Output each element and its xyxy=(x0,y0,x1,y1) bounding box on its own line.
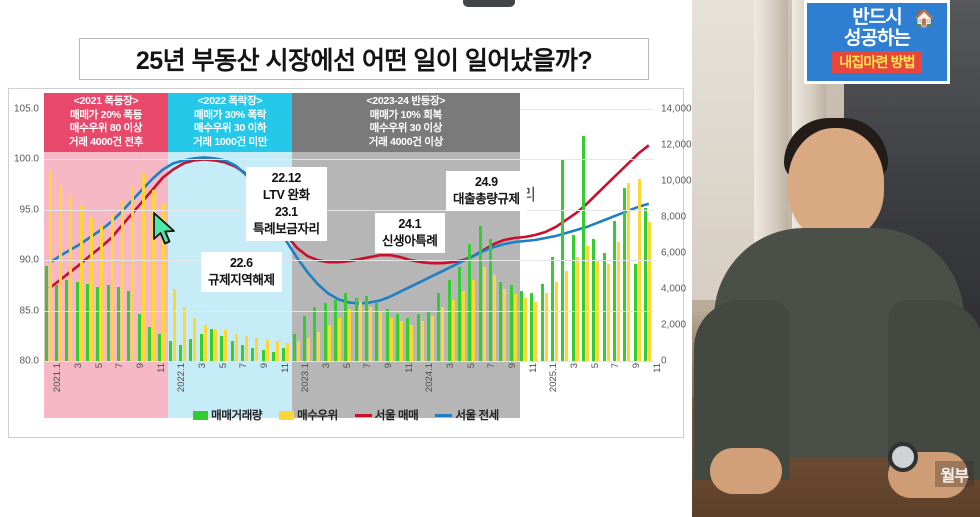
gridline xyxy=(44,260,654,261)
bar-sentiment xyxy=(431,316,434,361)
bar-volume xyxy=(386,309,389,361)
chart-container: 심리 80.085.090.095.0100.0105.002,0004,000… xyxy=(8,88,684,438)
channel-watermark: 월부 xyxy=(935,461,974,487)
bar-sentiment xyxy=(410,325,413,361)
bar-volume xyxy=(65,280,68,361)
x-axis-tick: 5 xyxy=(342,363,353,368)
bar-sentiment xyxy=(524,298,527,361)
bar-volume xyxy=(272,352,275,361)
bar-sentiment xyxy=(276,341,279,361)
overlay-line-3: 내집마련 방법 xyxy=(832,51,922,73)
category-line-2: 매수우위 80 이상 xyxy=(44,122,168,136)
gridline xyxy=(44,210,654,211)
callout-line-1: 규제지역해제 xyxy=(208,272,275,289)
bar-volume xyxy=(375,303,378,361)
bar-volume xyxy=(458,267,461,361)
callout-line-1: 대출총량규제 xyxy=(453,191,520,208)
y-axis-label: 95.0 xyxy=(20,204,39,215)
bar-sentiment xyxy=(452,300,455,361)
legend-swatch xyxy=(435,414,452,417)
bar-volume xyxy=(448,280,451,361)
y-axis-label: 90.0 xyxy=(20,255,39,266)
bar-volume xyxy=(468,244,471,361)
bar-volume xyxy=(179,345,182,361)
x-axis-tick: 2023.1 xyxy=(300,363,311,392)
bar-volume xyxy=(613,221,616,361)
x-axis-tick: 11 xyxy=(156,363,167,373)
person-left-hand xyxy=(710,448,782,494)
callout-line-0: 24.1 xyxy=(382,216,438,233)
x-axis-tick: 5 xyxy=(94,363,105,368)
bar-sentiment xyxy=(90,217,93,361)
bar-volume xyxy=(417,314,420,361)
bar-sentiment xyxy=(607,264,610,361)
bar-volume xyxy=(210,329,213,361)
bar-volume xyxy=(603,253,606,361)
bar-sentiment xyxy=(224,330,227,361)
legend-item: 서울 전세 xyxy=(435,407,499,423)
x-axis-tick: 3 xyxy=(445,363,456,368)
presentation-slide: 25년 부동산 시장에선 어떤 일이 일어났을까? 심리 80.085.090.… xyxy=(0,0,692,517)
x-axis-tick: 9 xyxy=(259,363,270,368)
bar-sentiment xyxy=(100,226,103,361)
bar-volume xyxy=(313,307,316,361)
y2-axis-label: 10,000 xyxy=(661,176,692,187)
gridline xyxy=(44,159,654,160)
y-axis-label: 105.0 xyxy=(14,104,39,115)
legend-item: 서울 매매 xyxy=(355,407,419,423)
callout-ltv: 22.12LTV 완화23.1특례보금자리 xyxy=(246,167,327,241)
bar-sentiment xyxy=(503,289,506,361)
x-axis-tick: 3 xyxy=(321,363,332,368)
bar-volume xyxy=(324,303,327,361)
overlay-line-2: 성공하는 xyxy=(809,28,945,49)
x-axis-tick: 11 xyxy=(280,363,291,373)
wristwatch xyxy=(888,442,918,472)
x-axis-tick: 3 xyxy=(197,363,208,368)
x-axis-tick: 2025.1 xyxy=(548,363,559,392)
bar-volume xyxy=(520,291,523,361)
bar-sentiment xyxy=(297,341,300,361)
bar-sentiment xyxy=(183,307,186,361)
y-axis-label: 85.0 xyxy=(20,305,39,316)
bar-volume xyxy=(406,318,409,361)
bar-volume xyxy=(644,208,647,361)
legend-label: 서울 전세 xyxy=(455,407,499,423)
y-axis-label: 100.0 xyxy=(14,154,39,165)
callout-line-0: 24.9 xyxy=(453,174,520,191)
bar-volume xyxy=(489,239,492,361)
callout-line-0: 22.6 xyxy=(208,255,275,272)
bar-sentiment xyxy=(193,318,196,361)
bar-volume xyxy=(510,285,513,361)
x-axis-tick: 2024.1 xyxy=(424,363,435,392)
callout-line-1: LTV 완화 xyxy=(253,187,320,204)
x-axis-tick: 9 xyxy=(135,363,146,368)
y2-axis-label: 8,000 xyxy=(661,212,686,223)
bar-volume xyxy=(365,296,368,361)
bar-volume xyxy=(623,188,626,361)
bar-volume xyxy=(55,285,58,361)
bar-volume xyxy=(396,314,399,361)
bar-sentiment xyxy=(348,309,351,361)
bar-sentiment xyxy=(483,267,486,361)
x-axis-tick: 3 xyxy=(73,363,84,368)
bar-sentiment xyxy=(111,213,114,361)
category-line-3: 거래 1000건 미만 xyxy=(168,136,292,150)
x-axis-tick: 7 xyxy=(114,363,125,368)
x-axis-tick: 9 xyxy=(631,363,642,368)
bar-volume xyxy=(169,341,172,361)
person-face xyxy=(788,128,884,240)
category-box-2021: <2021 폭등장>매매가 20% 폭등매수우위 80 이상거래 4000건 전… xyxy=(44,93,168,152)
x-axis-tick: 2021.1 xyxy=(52,363,63,392)
bar-volume xyxy=(262,350,265,361)
legend-label: 매매거래량 xyxy=(211,407,262,423)
x-axis-tick: 7 xyxy=(610,363,621,368)
bar-volume xyxy=(251,348,254,361)
category-box-2023-24: <2023-24 반등장>매매가 10% 회복매수우위 30 이상거래 4000… xyxy=(292,93,519,152)
callout-loan: 24.9대출총량규제 xyxy=(446,171,527,211)
bar-sentiment xyxy=(235,334,238,361)
bar-volume xyxy=(220,336,223,361)
callout-line-0: 22.12 xyxy=(253,170,320,187)
category-line-1: 매매가 20% 폭등 xyxy=(44,109,168,123)
bar-volume xyxy=(437,293,440,361)
bar-sentiment xyxy=(121,199,124,361)
bar-sentiment xyxy=(555,282,558,361)
callout-line-1: 신생아특례 xyxy=(382,233,438,250)
bar-volume xyxy=(148,327,151,361)
category-box-2022: <2022 폭락장>매매가 30% 폭락매수우위 30 이하거래 1000건 미… xyxy=(168,93,292,152)
bar-volume xyxy=(303,316,306,361)
bar-volume xyxy=(592,239,595,361)
bar-volume xyxy=(572,235,575,361)
video-panel: 🏠 반드시 성공하는 내집마련 방법 월부 xyxy=(692,0,980,517)
category-line-3: 거래 4000건 이상 xyxy=(292,136,519,150)
bar-volume xyxy=(479,226,482,361)
bar-sentiment xyxy=(317,332,320,361)
bar-sentiment xyxy=(421,321,424,361)
bar-volume xyxy=(241,345,244,361)
bar-volume xyxy=(107,285,110,361)
gridline xyxy=(44,311,654,312)
bar-sentiment xyxy=(472,280,475,361)
chart-legend: 매매거래량매수우위서울 매매서울 전세 xyxy=(9,407,683,423)
x-axis-tick: 11 xyxy=(652,363,663,373)
bar-volume xyxy=(45,266,48,361)
category-line-0: <2023-24 반등장> xyxy=(292,95,519,109)
bar-sentiment xyxy=(514,294,517,361)
callout-newborn: 24.1신생아특례 xyxy=(375,213,445,253)
bar-volume xyxy=(231,341,234,361)
bar-sentiment xyxy=(576,257,579,361)
legend-item: 매수우위 xyxy=(279,407,338,423)
bar-volume xyxy=(582,136,585,361)
bar-sentiment xyxy=(400,321,403,361)
bar-sentiment xyxy=(214,329,217,361)
top-notch-bar xyxy=(463,0,515,7)
bar-volume xyxy=(282,348,285,361)
callout-region: 22.6규제지역해제 xyxy=(201,252,282,292)
bar-volume xyxy=(189,339,192,361)
y-axis-label: 80.0 xyxy=(20,356,39,367)
bar-sentiment xyxy=(565,271,568,361)
bar-sentiment xyxy=(245,336,248,361)
bar-sentiment xyxy=(379,312,382,361)
bar-sentiment xyxy=(59,185,62,361)
bar-volume xyxy=(344,293,347,361)
bar-volume xyxy=(96,287,99,361)
bar-sentiment xyxy=(255,338,258,361)
callout-line-2: 23.1 xyxy=(253,204,320,221)
bar-sentiment xyxy=(338,318,341,361)
bar-volume xyxy=(551,257,554,361)
page-title: 25년 부동산 시장에선 어떤 일이 일어났을까? xyxy=(136,41,592,77)
bar-sentiment xyxy=(369,307,372,361)
bar-volume xyxy=(334,300,337,361)
bar-volume xyxy=(158,334,161,361)
x-axis-tick: 7 xyxy=(486,363,497,368)
y2-axis-label: 6,000 xyxy=(661,248,686,259)
x-axis-tick: 2022.1 xyxy=(176,363,187,392)
mouse-cursor-icon xyxy=(152,212,178,246)
bar-sentiment xyxy=(173,289,176,361)
bar-sentiment xyxy=(266,339,269,361)
bar-sentiment xyxy=(648,222,651,361)
y2-axis-label: 2,000 xyxy=(661,320,686,331)
bar-sentiment xyxy=(586,246,589,361)
bar-sentiment xyxy=(204,325,207,361)
legend-swatch xyxy=(355,414,372,417)
legend-swatch xyxy=(193,411,208,420)
bar-sentiment xyxy=(80,206,83,361)
bar-volume xyxy=(86,284,89,361)
x-axis-tick: 11 xyxy=(528,363,539,373)
x-axis-tick: 5 xyxy=(466,363,477,368)
x-axis-tick: 5 xyxy=(218,363,229,368)
x-axis-tick: 9 xyxy=(507,363,518,368)
bar-volume xyxy=(127,291,130,361)
bar-volume xyxy=(76,282,79,361)
y2-axis-label: 12,000 xyxy=(661,140,692,151)
bar-sentiment xyxy=(493,275,496,361)
x-axis-tick: 7 xyxy=(238,363,249,368)
bar-sentiment xyxy=(462,291,465,361)
category-line-2: 매수우위 30 이상 xyxy=(292,122,519,136)
bar-sentiment xyxy=(307,338,310,361)
x-axis-tick: 5 xyxy=(590,363,601,368)
bar-sentiment xyxy=(390,318,393,361)
x-axis-tick: 3 xyxy=(569,363,580,368)
y2-axis-label: 4,000 xyxy=(661,284,686,295)
bar-sentiment xyxy=(545,293,548,361)
bar-sentiment xyxy=(69,195,72,361)
bar-volume xyxy=(293,334,296,361)
bar-sentiment xyxy=(131,186,134,361)
bar-sentiment xyxy=(286,343,289,361)
bar-volume xyxy=(200,334,203,361)
house-icon: 🏠 xyxy=(914,9,935,29)
category-line-2: 매수우위 30 이하 xyxy=(168,122,292,136)
category-line-1: 매매가 10% 회복 xyxy=(292,109,519,123)
bar-sentiment xyxy=(441,307,444,361)
bar-sentiment xyxy=(49,172,52,361)
legend-label: 매수우위 xyxy=(297,407,338,423)
x-axis-tick: 11 xyxy=(404,363,415,373)
bar-volume xyxy=(427,311,430,361)
y2-axis-label: 14,000 xyxy=(661,104,692,115)
x-axis-tick: 7 xyxy=(362,363,373,368)
legend-item: 매매거래량 xyxy=(193,407,262,423)
x-axis-tick: 9 xyxy=(383,363,394,368)
legend-swatch xyxy=(279,411,294,420)
bar-sentiment xyxy=(328,325,331,361)
video-title-overlay: 🏠 반드시 성공하는 내집마련 방법 xyxy=(804,0,950,84)
bar-volume xyxy=(634,264,637,361)
bar-volume xyxy=(138,314,141,361)
bar-sentiment xyxy=(638,179,641,361)
bar-volume xyxy=(530,293,533,361)
category-line-3: 거래 4000건 전후 xyxy=(44,136,168,150)
legend-label: 서울 매매 xyxy=(375,407,419,423)
bar-volume xyxy=(355,298,358,361)
bar-volume xyxy=(541,284,544,361)
category-line-0: <2022 폭락장> xyxy=(168,95,292,109)
category-line-1: 매매가 30% 폭락 xyxy=(168,109,292,123)
callout-line-3: 특례보금자리 xyxy=(253,221,320,238)
bar-volume xyxy=(499,282,502,361)
bar-volume xyxy=(117,287,120,361)
category-line-0: <2021 폭등장> xyxy=(44,95,168,109)
slide-title-box: 25년 부동산 시장에선 어떤 일이 일어났을까? xyxy=(79,38,649,80)
bar-sentiment xyxy=(142,174,145,361)
